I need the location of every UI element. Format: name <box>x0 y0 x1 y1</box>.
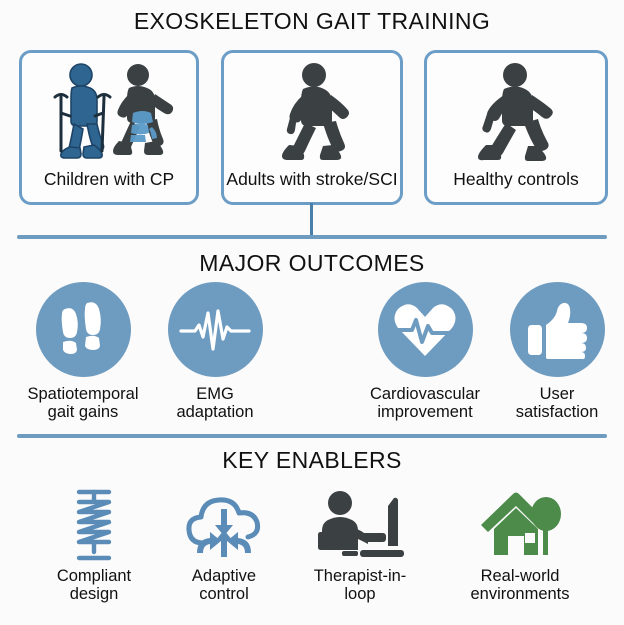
enabler-item-real-world-environments[interactable]: Real-world environments <box>450 487 590 604</box>
enabler-label-line2: loop <box>290 585 430 603</box>
section-title-key-enablers: KEY ENABLERS <box>0 447 624 474</box>
house-tree-icon <box>450 487 590 565</box>
enabler-label: Adaptive control <box>154 567 294 604</box>
section-title-exoskeleton-gait-training: EXOSKELETON GAIT TRAINING <box>0 8 624 35</box>
enabler-label-line1: Compliant <box>24 567 164 585</box>
walking-adult-icon <box>427 59 605 167</box>
outcome-label: Spatiotemporal gait gains <box>17 385 149 422</box>
population-card-children-with-cp[interactable]: Children with CP <box>19 50 199 205</box>
enabler-label: Real-world environments <box>450 567 590 604</box>
infographic-canvas: EXOSKELETON GAIT TRAINING <box>0 0 624 625</box>
outcome-item-user-satisfaction[interactable]: User satisfaction <box>491 282 623 422</box>
enabler-label-line1: Therapist-in- <box>290 567 430 585</box>
children-crutches-brace-icon <box>22 59 196 167</box>
enabler-label-line2: environments <box>450 585 590 603</box>
population-card-healthy-controls[interactable]: Healthy controls <box>424 50 608 205</box>
section-divider-key-enablers <box>17 434 607 438</box>
section-title-major-outcomes: MAJOR OUTCOMES <box>0 250 624 277</box>
outcome-item-spatiotemporal-gait-gains[interactable]: Spatiotemporal gait gains <box>17 282 149 422</box>
outcome-label: Cardiovascular improvement <box>359 385 491 422</box>
population-label: Children with CP <box>16 169 202 190</box>
enabler-label: Compliant design <box>24 567 164 604</box>
population-label: Healthy controls <box>421 169 611 190</box>
enabler-item-adaptive-control[interactable]: Adaptive control <box>154 487 294 604</box>
outcome-label-line1: Cardiovascular <box>359 385 491 403</box>
therapist-desk-icon <box>290 487 430 565</box>
connector-line <box>310 203 313 237</box>
outcome-label-line2: adaptation <box>149 403 281 421</box>
spring-coil-icon <box>24 487 164 565</box>
outcome-label: User satisfaction <box>491 385 623 422</box>
outcome-item-emg-adaptation[interactable]: EMG adaptation <box>149 282 281 422</box>
section-divider-major-outcomes <box>17 235 607 239</box>
enabler-label-line2: design <box>24 585 164 603</box>
thumbs-up-icon <box>510 282 605 377</box>
outcome-label-line2: satisfaction <box>491 403 623 421</box>
outcome-label: EMG adaptation <box>149 385 281 422</box>
enabler-label: Therapist-in- loop <box>290 567 430 604</box>
enabler-label-line1: Adaptive <box>154 567 294 585</box>
outcome-label-line2: gait gains <box>17 403 149 421</box>
enabler-label-line2: control <box>154 585 294 603</box>
outcome-label-line2: improvement <box>359 403 491 421</box>
outcome-item-cardiovascular-improvement[interactable]: Cardiovascular improvement <box>359 282 491 422</box>
outcome-label-line1: EMG <box>149 385 281 403</box>
population-card-adults-with-stroke-sci[interactable]: Adults with stroke/SCI <box>221 50 403 205</box>
enabler-label-line1: Real-world <box>450 567 590 585</box>
cloud-arrows-icon <box>154 487 294 565</box>
population-label: Adults with stroke/SCI <box>218 169 406 190</box>
heart-pulse-icon <box>378 282 473 377</box>
enabler-item-compliant-design[interactable]: Compliant design <box>24 487 164 604</box>
outcome-label-line1: Spatiotemporal <box>17 385 149 403</box>
outcome-label-line1: User <box>491 385 623 403</box>
footprints-icon <box>36 282 131 377</box>
enabler-item-therapist-in-loop[interactable]: Therapist-in- loop <box>290 487 430 604</box>
walking-adult-icon <box>224 59 400 167</box>
emg-waveform-icon <box>168 282 263 377</box>
